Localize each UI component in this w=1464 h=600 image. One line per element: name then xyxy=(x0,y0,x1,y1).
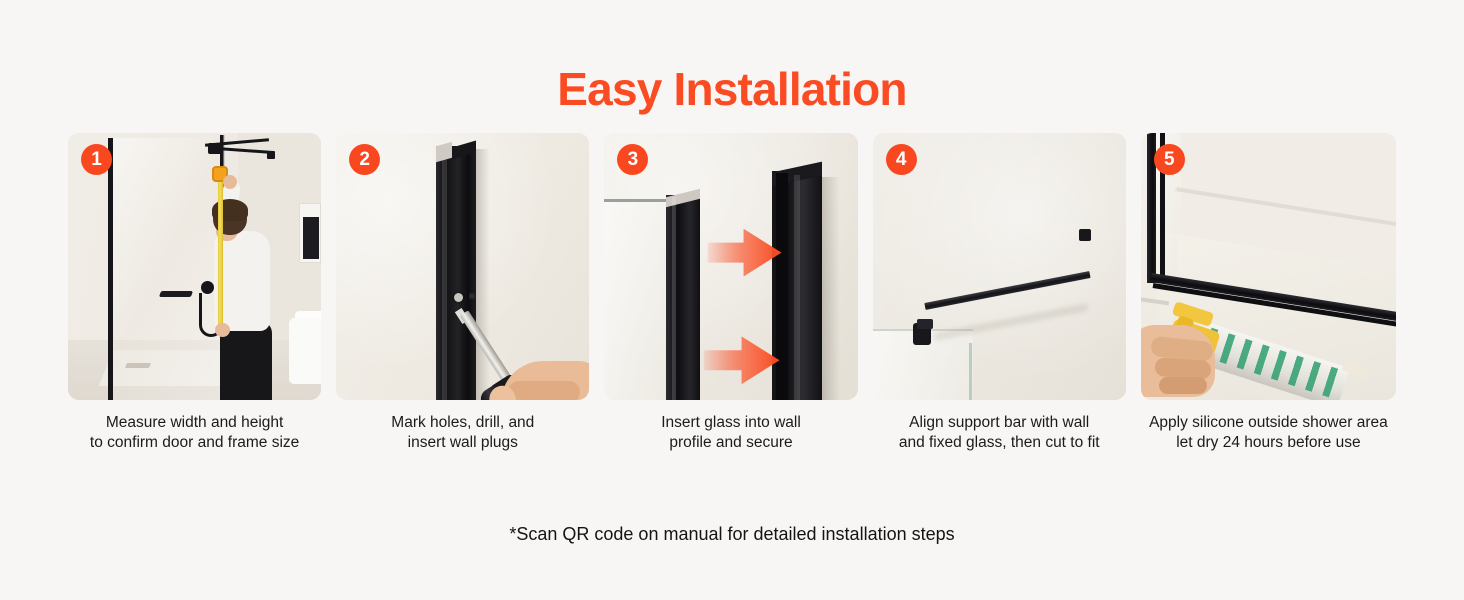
step-caption-4-line1: Align support bar with wall xyxy=(909,414,1089,431)
step-photo-4: 4 xyxy=(873,133,1126,400)
step-caption-2-line2: insert wall plugs xyxy=(336,433,589,453)
step-caption-2-line1: Mark holes, drill, and xyxy=(391,414,534,431)
step-caption-1: Measure width and height to confirm door… xyxy=(68,413,321,453)
step-card-5: 5 Apply silicone outside shower area let… xyxy=(1141,133,1396,453)
wall-cabinet-panel xyxy=(303,217,319,259)
shower-shelf xyxy=(159,291,193,297)
step-card-2: 2 Mark holes, drill, and insert wall plu… xyxy=(336,133,589,453)
profile-shadow xyxy=(476,149,490,400)
step-photo-5: 5 xyxy=(1141,133,1396,400)
person-lower-hand xyxy=(215,323,230,337)
hand-finger-1 xyxy=(508,381,580,400)
installation-guide-page: Easy Installation xyxy=(0,0,1464,600)
step-caption-1-line2: to confirm door and frame size xyxy=(68,433,321,453)
tape-measure-blade xyxy=(218,174,223,326)
step-photo-2: 2 xyxy=(336,133,589,400)
glass-shower-panel xyxy=(108,138,223,400)
support-bar-wall-bracket xyxy=(1079,229,1091,241)
step-photo-1: 1 xyxy=(68,133,321,400)
support-bar-glass-clamp-top xyxy=(917,319,933,329)
step-card-3: 3 Insert glass into wall profile and sec… xyxy=(604,133,857,453)
step-badge-2: 2 xyxy=(349,144,380,175)
step-caption-5-line2: let dry 24 hours before use xyxy=(1141,433,1396,453)
step-caption-4: Align support bar with wall and fixed gl… xyxy=(873,413,1126,453)
arrow-right-upper xyxy=(708,229,782,277)
step-caption-3-line1: Insert glass into wall xyxy=(661,414,801,431)
step-badge-5: 5 xyxy=(1154,144,1185,175)
toilet xyxy=(289,318,321,384)
footnote-text: *Scan QR code on manual for detailed ins… xyxy=(0,524,1464,545)
profile-highlight xyxy=(442,146,447,400)
page-title: Easy Installation xyxy=(0,62,1464,116)
step-caption-4-line2: and fixed glass, then cut to fit xyxy=(873,433,1126,453)
arrow-right-lower xyxy=(704,336,780,384)
person-upper-hand xyxy=(223,175,237,189)
direction-arrows xyxy=(604,133,857,400)
step-caption-3-line2: profile and secure xyxy=(604,433,857,453)
step-caption-5: Apply silicone outside shower area let d… xyxy=(1141,413,1396,453)
step-badge-4: 4 xyxy=(886,144,917,175)
glass-side-edge xyxy=(969,343,972,400)
support-bar-wall-plate xyxy=(267,151,275,159)
step-caption-1-line1: Measure width and height xyxy=(106,414,284,431)
step-caption-2: Mark holes, drill, and insert wall plugs xyxy=(336,413,589,453)
steps-row: 1 Measure width and height to confirm do… xyxy=(68,133,1396,453)
step-card-4: 4 Align support bar with wall and fixed … xyxy=(873,133,1126,453)
step-badge-1: 1 xyxy=(81,144,112,175)
step-card-1: 1 Measure width and height to confirm do… xyxy=(68,133,321,453)
hand-finger-3 xyxy=(1159,377,1207,394)
step-caption-5-line1: Apply silicone outside shower area xyxy=(1149,414,1388,431)
step-photo-3: 3 xyxy=(604,133,857,400)
step-caption-3: Insert glass into wall profile and secur… xyxy=(604,413,857,453)
